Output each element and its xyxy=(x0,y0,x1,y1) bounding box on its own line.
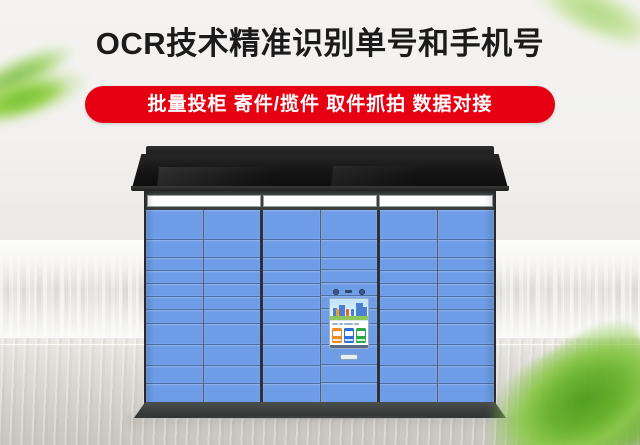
scanner-slot-icon xyxy=(345,290,352,293)
locker-door[interactable] xyxy=(204,297,261,310)
locker-door[interactable] xyxy=(263,240,320,258)
locker-door[interactable] xyxy=(263,366,320,384)
kiosk-card-reader-slot[interactable] xyxy=(340,354,358,360)
kiosk-hero-illustration xyxy=(330,299,368,320)
locker-door[interactable] xyxy=(263,310,320,325)
locker-column xyxy=(438,210,495,406)
locker-door[interactable] xyxy=(438,366,495,384)
locker-column xyxy=(146,210,204,406)
cabinet-header-cell xyxy=(263,195,377,207)
button-caption-bar xyxy=(332,339,341,341)
locker-door[interactable] xyxy=(263,210,320,240)
locker-door[interactable] xyxy=(146,297,203,310)
notice-text-line xyxy=(339,323,343,325)
kiosk-camera-row xyxy=(333,288,365,295)
locker-door[interactable] xyxy=(204,310,261,325)
locker-door[interactable] xyxy=(146,284,203,297)
locker-door[interactable] xyxy=(380,345,437,366)
locker-door[interactable] xyxy=(438,271,495,284)
locker-section-center-section xyxy=(263,210,380,406)
locker-door[interactable] xyxy=(146,366,203,384)
kiosk-terminal[interactable] xyxy=(327,288,371,364)
hero-building-shape xyxy=(356,303,363,317)
locker-door[interactable] xyxy=(146,271,203,284)
locker-sections xyxy=(146,210,494,406)
button-glyph-icon xyxy=(333,331,341,336)
locker-door[interactable] xyxy=(380,284,437,297)
locker-door[interactable] xyxy=(438,240,495,258)
promo-scene: OCR技术精准识别单号和手机号 批量投柜 寄件/揽件 取件抓拍 数据对接 xyxy=(0,0,640,445)
notice-text-line xyxy=(344,323,353,325)
locker-door[interactable] xyxy=(321,365,378,383)
locker-door[interactable] xyxy=(380,366,437,384)
locker-door[interactable] xyxy=(204,210,261,240)
cabinet-header-strip xyxy=(146,193,494,209)
locker-door[interactable] xyxy=(321,210,378,240)
hero-figure-shape xyxy=(346,309,349,316)
locker-door[interactable] xyxy=(146,324,203,345)
locker-door[interactable] xyxy=(204,258,261,271)
locker-door[interactable] xyxy=(380,271,437,284)
locker-column xyxy=(204,210,261,406)
locker-door[interactable] xyxy=(438,297,495,310)
locker-column xyxy=(380,210,438,406)
notice-text-line xyxy=(332,323,338,325)
hero-figure-shape xyxy=(351,309,354,316)
kiosk-screen-footer xyxy=(330,345,368,348)
locker-door[interactable] xyxy=(438,284,495,297)
camera-lens-icon xyxy=(359,289,365,295)
button-caption-bar xyxy=(344,339,353,341)
canopy-roof xyxy=(132,154,508,188)
locker-door[interactable] xyxy=(204,324,261,345)
locker-door[interactable] xyxy=(146,258,203,271)
locker-door[interactable] xyxy=(438,345,495,366)
locker-door[interactable] xyxy=(380,297,437,310)
locker-door[interactable] xyxy=(263,345,320,366)
locker-door[interactable] xyxy=(380,324,437,345)
locker-door[interactable] xyxy=(146,345,203,366)
cabinet-body xyxy=(144,191,496,404)
kiosk-pickup-button[interactable] xyxy=(344,328,354,343)
locker-door[interactable] xyxy=(321,270,378,283)
locker-section-right-section xyxy=(380,210,494,406)
locker-door[interactable] xyxy=(263,258,320,271)
hero-figure-shape xyxy=(336,309,339,316)
button-glyph-icon xyxy=(357,331,365,336)
locker-column xyxy=(263,210,321,406)
locker-door[interactable] xyxy=(146,310,203,325)
feature-pill-label: 批量投柜 寄件/揽件 取件抓拍 数据对接 xyxy=(147,86,492,123)
button-glyph-icon xyxy=(345,331,353,336)
locker-section-left-section xyxy=(146,210,263,406)
locker-door[interactable] xyxy=(146,240,203,258)
locker-door[interactable] xyxy=(263,271,320,284)
camera-lens-icon xyxy=(333,289,339,295)
locker-door[interactable] xyxy=(438,310,495,325)
locker-door[interactable] xyxy=(438,324,495,345)
locker-door[interactable] xyxy=(321,240,378,258)
locker-door[interactable] xyxy=(263,284,320,297)
locker-door[interactable] xyxy=(380,310,437,325)
notice-text-line xyxy=(354,323,359,325)
locker-door[interactable] xyxy=(438,210,495,240)
locker-door[interactable] xyxy=(321,258,378,271)
cabinet-header-cell xyxy=(147,195,261,207)
locker-door[interactable] xyxy=(380,258,437,271)
feature-pill: 批量投柜 寄件/揽件 取件抓拍 数据对接 xyxy=(85,86,555,123)
kiosk-screen[interactable] xyxy=(329,298,369,349)
locker-door[interactable] xyxy=(204,284,261,297)
page-title: OCR技术精准识别单号和手机号 xyxy=(0,24,640,64)
smart-locker-cabinet xyxy=(140,146,500,416)
button-caption-bar xyxy=(356,339,365,341)
kiosk-action-buttons xyxy=(330,326,368,345)
cabinet-drop-shadow xyxy=(126,416,518,423)
locker-door[interactable] xyxy=(263,324,320,345)
locker-door[interactable] xyxy=(204,240,261,258)
locker-door[interactable] xyxy=(263,297,320,310)
locker-door[interactable] xyxy=(438,258,495,271)
kiosk-service-button[interactable] xyxy=(356,328,366,343)
locker-door[interactable] xyxy=(204,366,261,384)
locker-door[interactable] xyxy=(204,271,261,284)
hero-ground-strip xyxy=(330,316,368,320)
locker-door[interactable] xyxy=(380,240,437,258)
locker-door[interactable] xyxy=(380,210,437,240)
locker-door[interactable] xyxy=(204,345,261,366)
cabinet-header-cell xyxy=(379,195,493,207)
locker-door[interactable] xyxy=(146,210,203,240)
kiosk-deposit-button[interactable] xyxy=(332,328,342,343)
locker-column xyxy=(321,210,378,406)
